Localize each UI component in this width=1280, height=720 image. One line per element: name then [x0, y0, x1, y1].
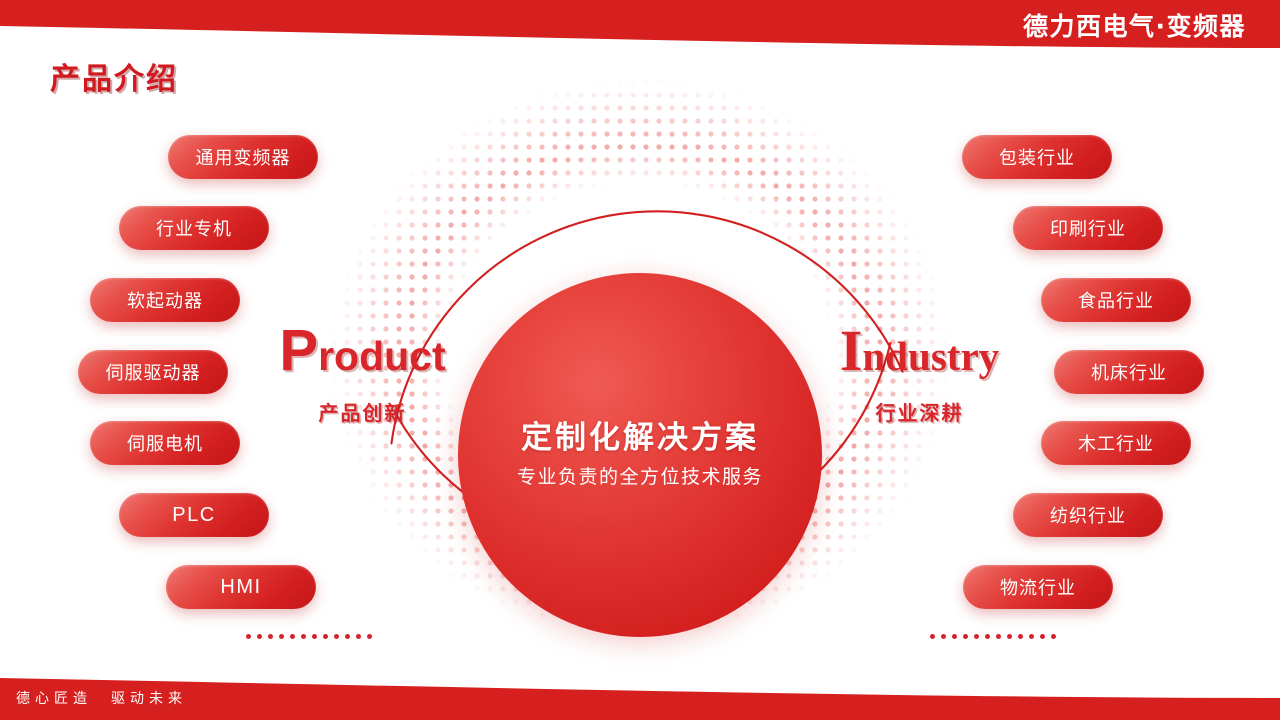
brand-logo-text: 德力西电气·变频器	[1023, 7, 1246, 43]
left-dot	[367, 634, 372, 639]
industry-pill-7[interactable]: 物流行业	[963, 565, 1113, 609]
left-dot	[323, 634, 328, 639]
pill-label: PLC	[172, 504, 215, 527]
industry-en-text: Industry	[832, 322, 1007, 380]
left-dot	[345, 634, 350, 639]
industry-pill-5[interactable]: 木工行业	[1041, 421, 1191, 465]
pill-label: HMI	[220, 576, 261, 599]
footer-slogan: 德心匠造 驱动未来	[16, 688, 187, 708]
left-dot	[334, 634, 339, 639]
right-dot	[974, 634, 979, 639]
industry-en-capital: I	[840, 318, 863, 383]
right-dot	[985, 634, 990, 639]
product-pill-4[interactable]: 伺服驱动器	[78, 350, 228, 394]
left-dot	[246, 634, 251, 639]
product-pill-7[interactable]: HMI	[166, 565, 316, 609]
pill-label: 伺服电机	[127, 430, 203, 456]
product-pill-3[interactable]: 软起动器	[90, 278, 240, 322]
pill-label: 包装行业	[999, 144, 1075, 170]
left-dot	[257, 634, 262, 639]
right-dot	[963, 634, 968, 639]
right-dot	[996, 634, 1001, 639]
slide-canvas: 德力西电气·变频器 产品介绍	[0, 0, 1280, 720]
product-pill-1[interactable]: 通用变频器	[168, 135, 318, 179]
product-en-text: Product	[275, 322, 450, 380]
industry-pill-4[interactable]: 机床行业	[1054, 350, 1204, 394]
right-dot-row	[930, 634, 1056, 639]
right-dot	[941, 634, 946, 639]
pill-label: 行业专机	[156, 215, 232, 241]
pill-label: 机床行业	[1091, 359, 1167, 385]
right-dot	[1018, 634, 1023, 639]
pill-label: 纺织行业	[1050, 502, 1126, 528]
pill-label: 食品行业	[1078, 287, 1154, 313]
right-dot	[930, 634, 935, 639]
page-title: 产品介绍	[50, 54, 178, 98]
pill-label: 通用变频器	[196, 144, 291, 170]
center-sphere: 定制化解决方案 专业负责的全方位技术服务	[458, 273, 822, 637]
footer-band-shape	[0, 664, 1280, 720]
right-dot	[1051, 634, 1056, 639]
right-dot	[1007, 634, 1012, 639]
pill-label: 印刷行业	[1050, 215, 1126, 241]
right-dot	[1029, 634, 1034, 639]
left-dot	[279, 634, 284, 639]
left-dot	[301, 634, 306, 639]
industry-pill-3[interactable]: 食品行业	[1041, 278, 1191, 322]
industry-pill-2[interactable]: 印刷行业	[1013, 206, 1163, 250]
center-headline: 定制化解决方案	[480, 420, 800, 457]
industry-en-rest: ndustry	[862, 333, 999, 379]
left-dot	[356, 634, 361, 639]
left-dot	[290, 634, 295, 639]
industry-axis-label: Industry 行业深耕	[832, 322, 1007, 426]
industry-pill-6[interactable]: 纺织行业	[1013, 493, 1163, 537]
pill-label: 木工行业	[1078, 430, 1154, 456]
right-dot	[1040, 634, 1045, 639]
product-en-rest: roduct	[318, 333, 446, 379]
center-sphere-content: 定制化解决方案 专业负责的全方位技术服务	[458, 420, 822, 490]
left-dot-row	[246, 634, 372, 639]
industry-pill-1[interactable]: 包装行业	[962, 135, 1112, 179]
product-pill-5[interactable]: 伺服电机	[90, 421, 240, 465]
product-en-capital: P	[279, 318, 318, 383]
product-axis-label: Product 产品创新	[275, 322, 450, 426]
pill-label: 物流行业	[1000, 574, 1076, 600]
left-dot	[312, 634, 317, 639]
product-pill-2[interactable]: 行业专机	[119, 206, 269, 250]
product-cn-text: 产品创新	[275, 397, 450, 426]
center-subheadline: 专业负责的全方位技术服务	[480, 465, 800, 490]
left-dot	[268, 634, 273, 639]
pill-label: 软起动器	[127, 287, 203, 313]
right-dot	[952, 634, 957, 639]
footer-band	[0, 664, 1280, 720]
industry-cn-text: 行业深耕	[832, 397, 1007, 426]
pill-label: 伺服驱动器	[106, 359, 201, 385]
product-pill-6[interactable]: PLC	[119, 493, 269, 537]
